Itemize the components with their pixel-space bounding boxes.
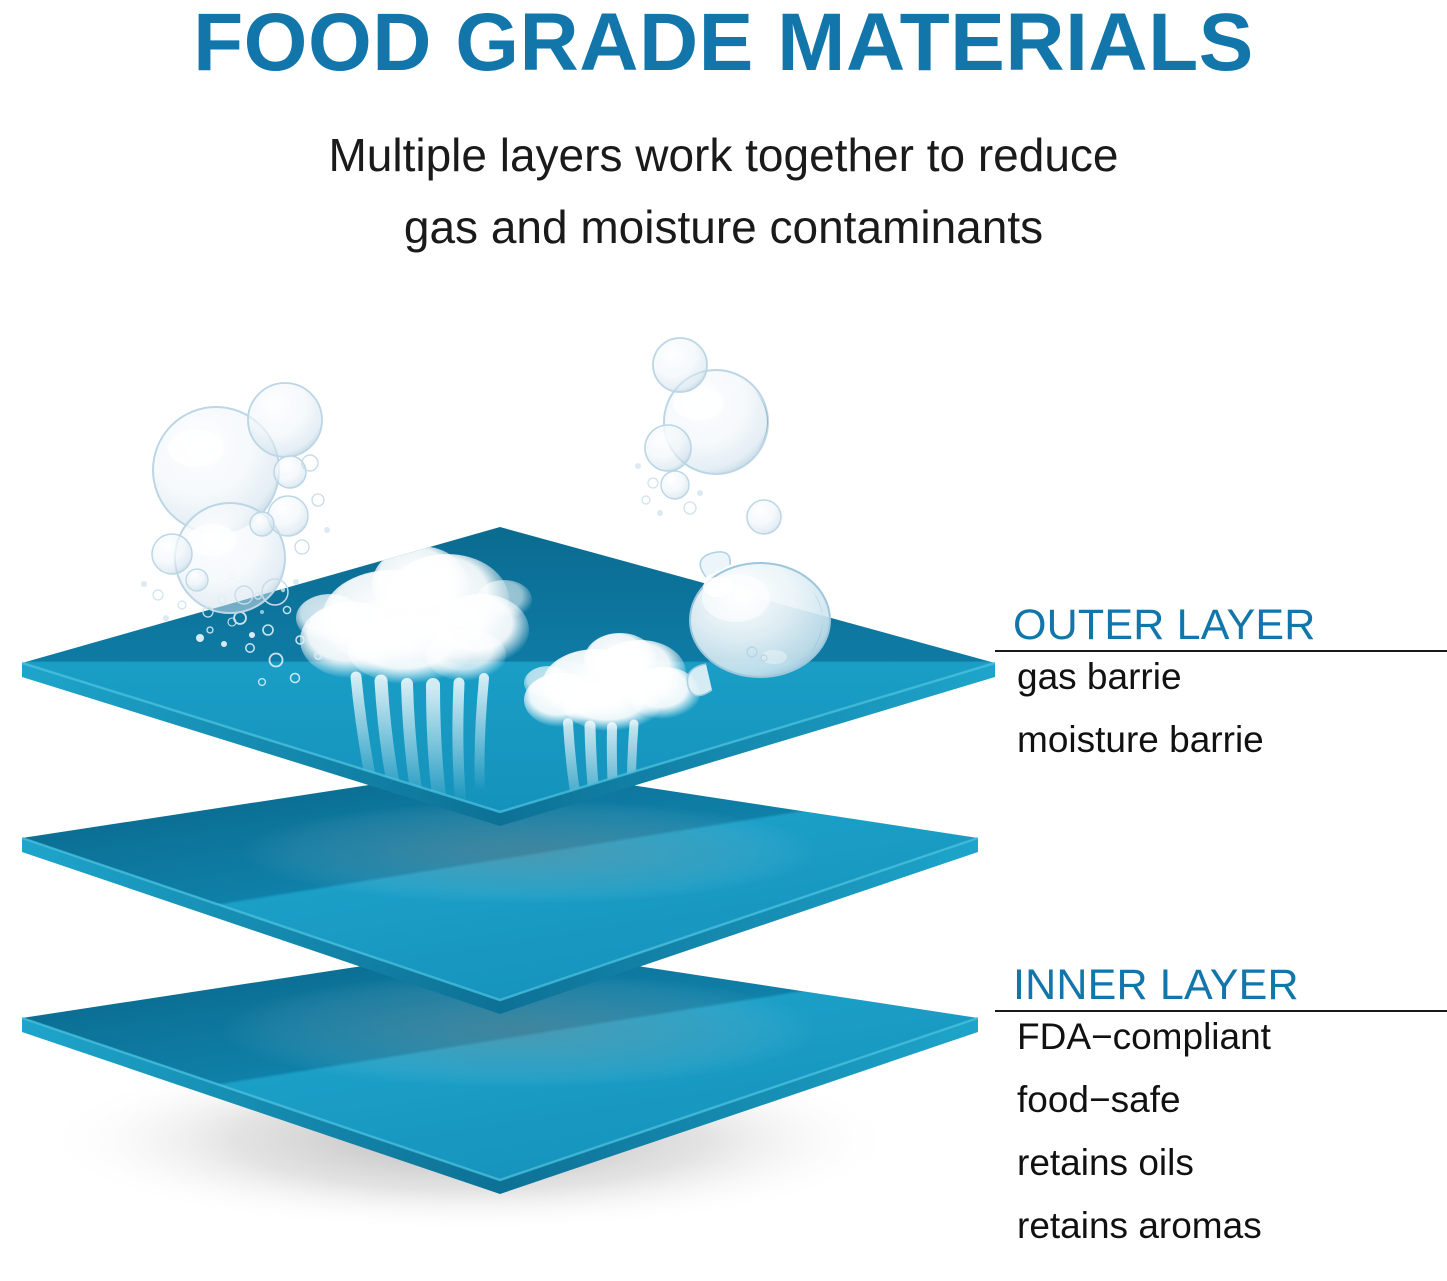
callout-inner-layer: INNER LAYER FDA−compliant food−safe reta…	[995, 964, 1447, 1270]
callout-inner-layer-title: INNER LAYER	[995, 964, 1447, 1008]
callout-outer-layer: OUTER LAYER gas barrie moisture barrie	[995, 604, 1447, 784]
list-item: retains aromas	[1017, 1207, 1447, 1244]
page-title: FOOD GRADE MATERIALS	[0, 2, 1447, 84]
callout-outer-layer-title: OUTER LAYER	[995, 604, 1447, 648]
page-subtitle-line-1: Multiple layers work together to reduce	[0, 132, 1447, 178]
infographic-page: FOOD GRADE MATERIALS Multiple layers wor…	[0, 0, 1447, 1281]
list-item: FDA−compliant	[1017, 1018, 1447, 1055]
list-item: food−safe	[1017, 1081, 1447, 1118]
bubble-cluster-right	[635, 338, 781, 534]
page-subtitle-line-2: gas and moisture contaminants	[0, 204, 1447, 250]
callout-outer-layer-list: gas barrie moisture barrie	[995, 652, 1447, 758]
layer-stack-illustration	[0, 300, 1010, 1281]
layer-stack-svg	[0, 300, 1010, 1281]
page-subtitle: Multiple layers work together to reduce …	[0, 132, 1447, 276]
list-item: gas barrie	[1017, 658, 1447, 695]
list-item: moisture barrie	[1017, 721, 1447, 758]
list-item: retains oils	[1017, 1144, 1447, 1181]
callout-inner-layer-list: FDA−compliant food−safe retains oils ret…	[995, 1012, 1447, 1244]
